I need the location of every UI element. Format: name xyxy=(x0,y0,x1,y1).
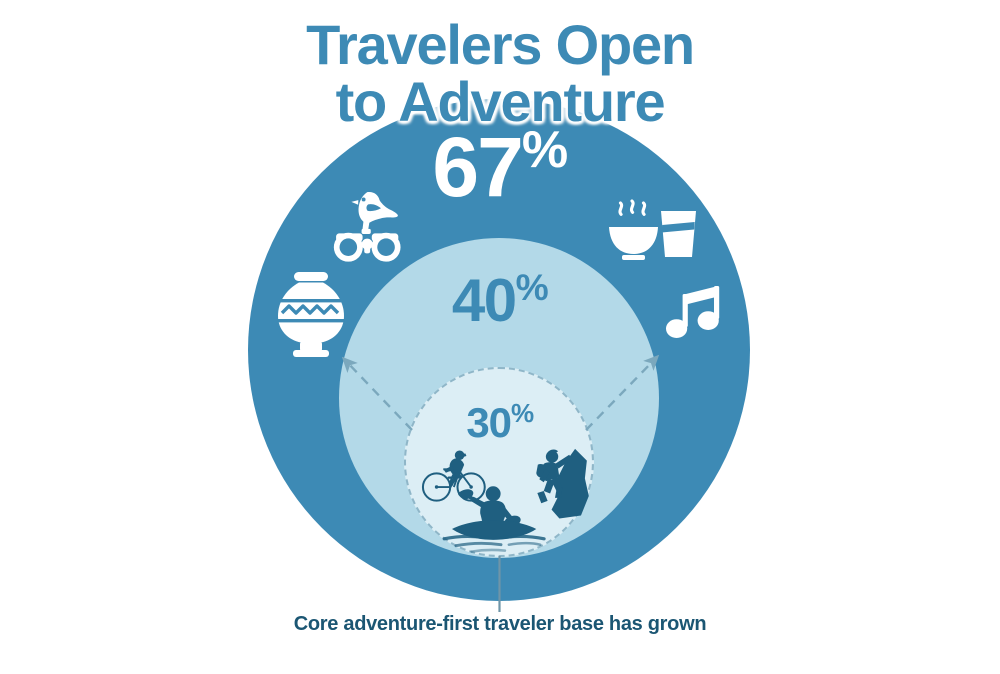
infographic-canvas: Travelers Open to Adventure xyxy=(0,0,1000,674)
caption-connector-layer xyxy=(0,0,1000,674)
caption-text: Core adventure-first traveler base has g… xyxy=(0,613,1000,636)
